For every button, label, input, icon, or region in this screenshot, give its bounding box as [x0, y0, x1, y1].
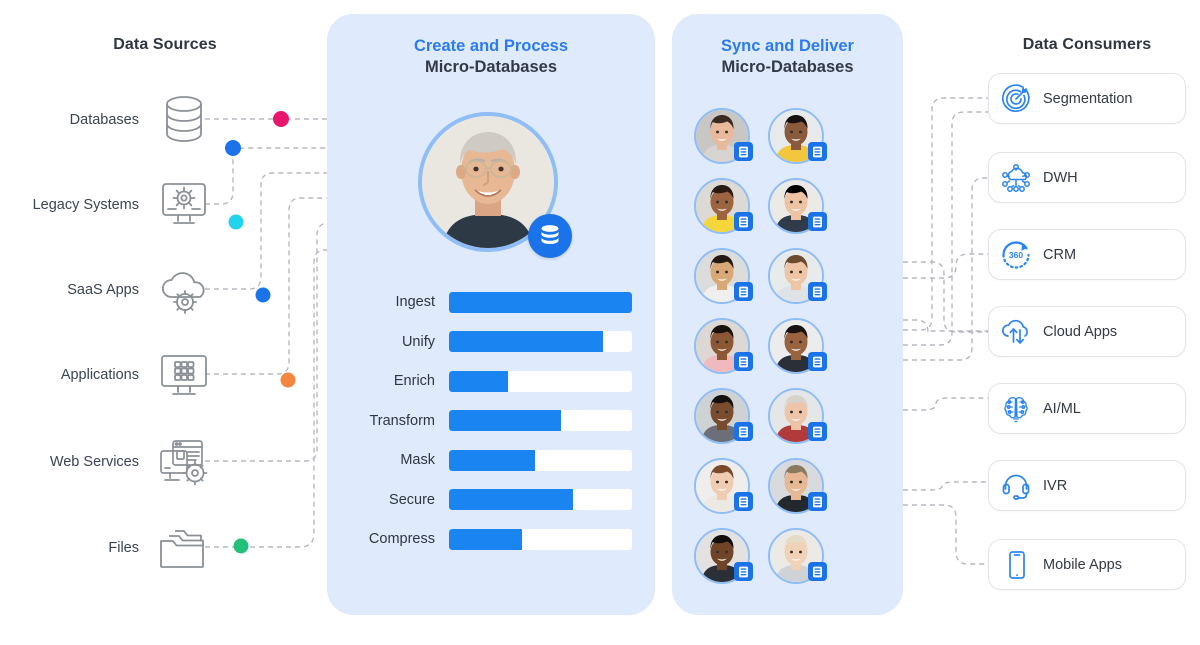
consumer-card-segmentation[interactable]: Segmentation — [988, 73, 1186, 124]
consumer-label: Cloud Apps — [1043, 324, 1117, 340]
consumer-card-dwh[interactable]: DWH — [988, 152, 1186, 203]
brain-circuit-icon — [989, 393, 1043, 425]
consumer-card-cloud-apps[interactable]: Cloud Apps — [988, 306, 1186, 357]
consumer-label: Mobile Apps — [1043, 557, 1122, 573]
consumer-label: IVR — [1043, 478, 1067, 494]
target-bullseye-icon — [989, 83, 1043, 115]
consumer-card-ai-ml[interactable]: AI/ML — [988, 383, 1186, 434]
consumer-label: AI/ML — [1043, 401, 1081, 417]
consumer-card-mobile-apps[interactable]: Mobile Apps — [988, 539, 1186, 590]
data-hub-network-icon — [989, 162, 1043, 194]
diagram-canvas: Data Sources Data Consumers Databases — [0, 0, 1200, 645]
consumer-label: Segmentation — [1043, 91, 1132, 107]
consumer-label: CRM — [1043, 247, 1076, 263]
smartphone-icon — [989, 549, 1043, 581]
consumer-card-ivr[interactable]: IVR — [988, 460, 1186, 511]
customer-360-icon: 360 — [989, 238, 1043, 272]
headset-icon — [989, 470, 1043, 502]
crm-360-badge-text: 360 — [1009, 250, 1023, 260]
consumer-label: DWH — [1043, 170, 1078, 186]
consumer-card-crm[interactable]: 360 CRM — [988, 229, 1186, 280]
cloud-sync-icon — [989, 316, 1043, 348]
